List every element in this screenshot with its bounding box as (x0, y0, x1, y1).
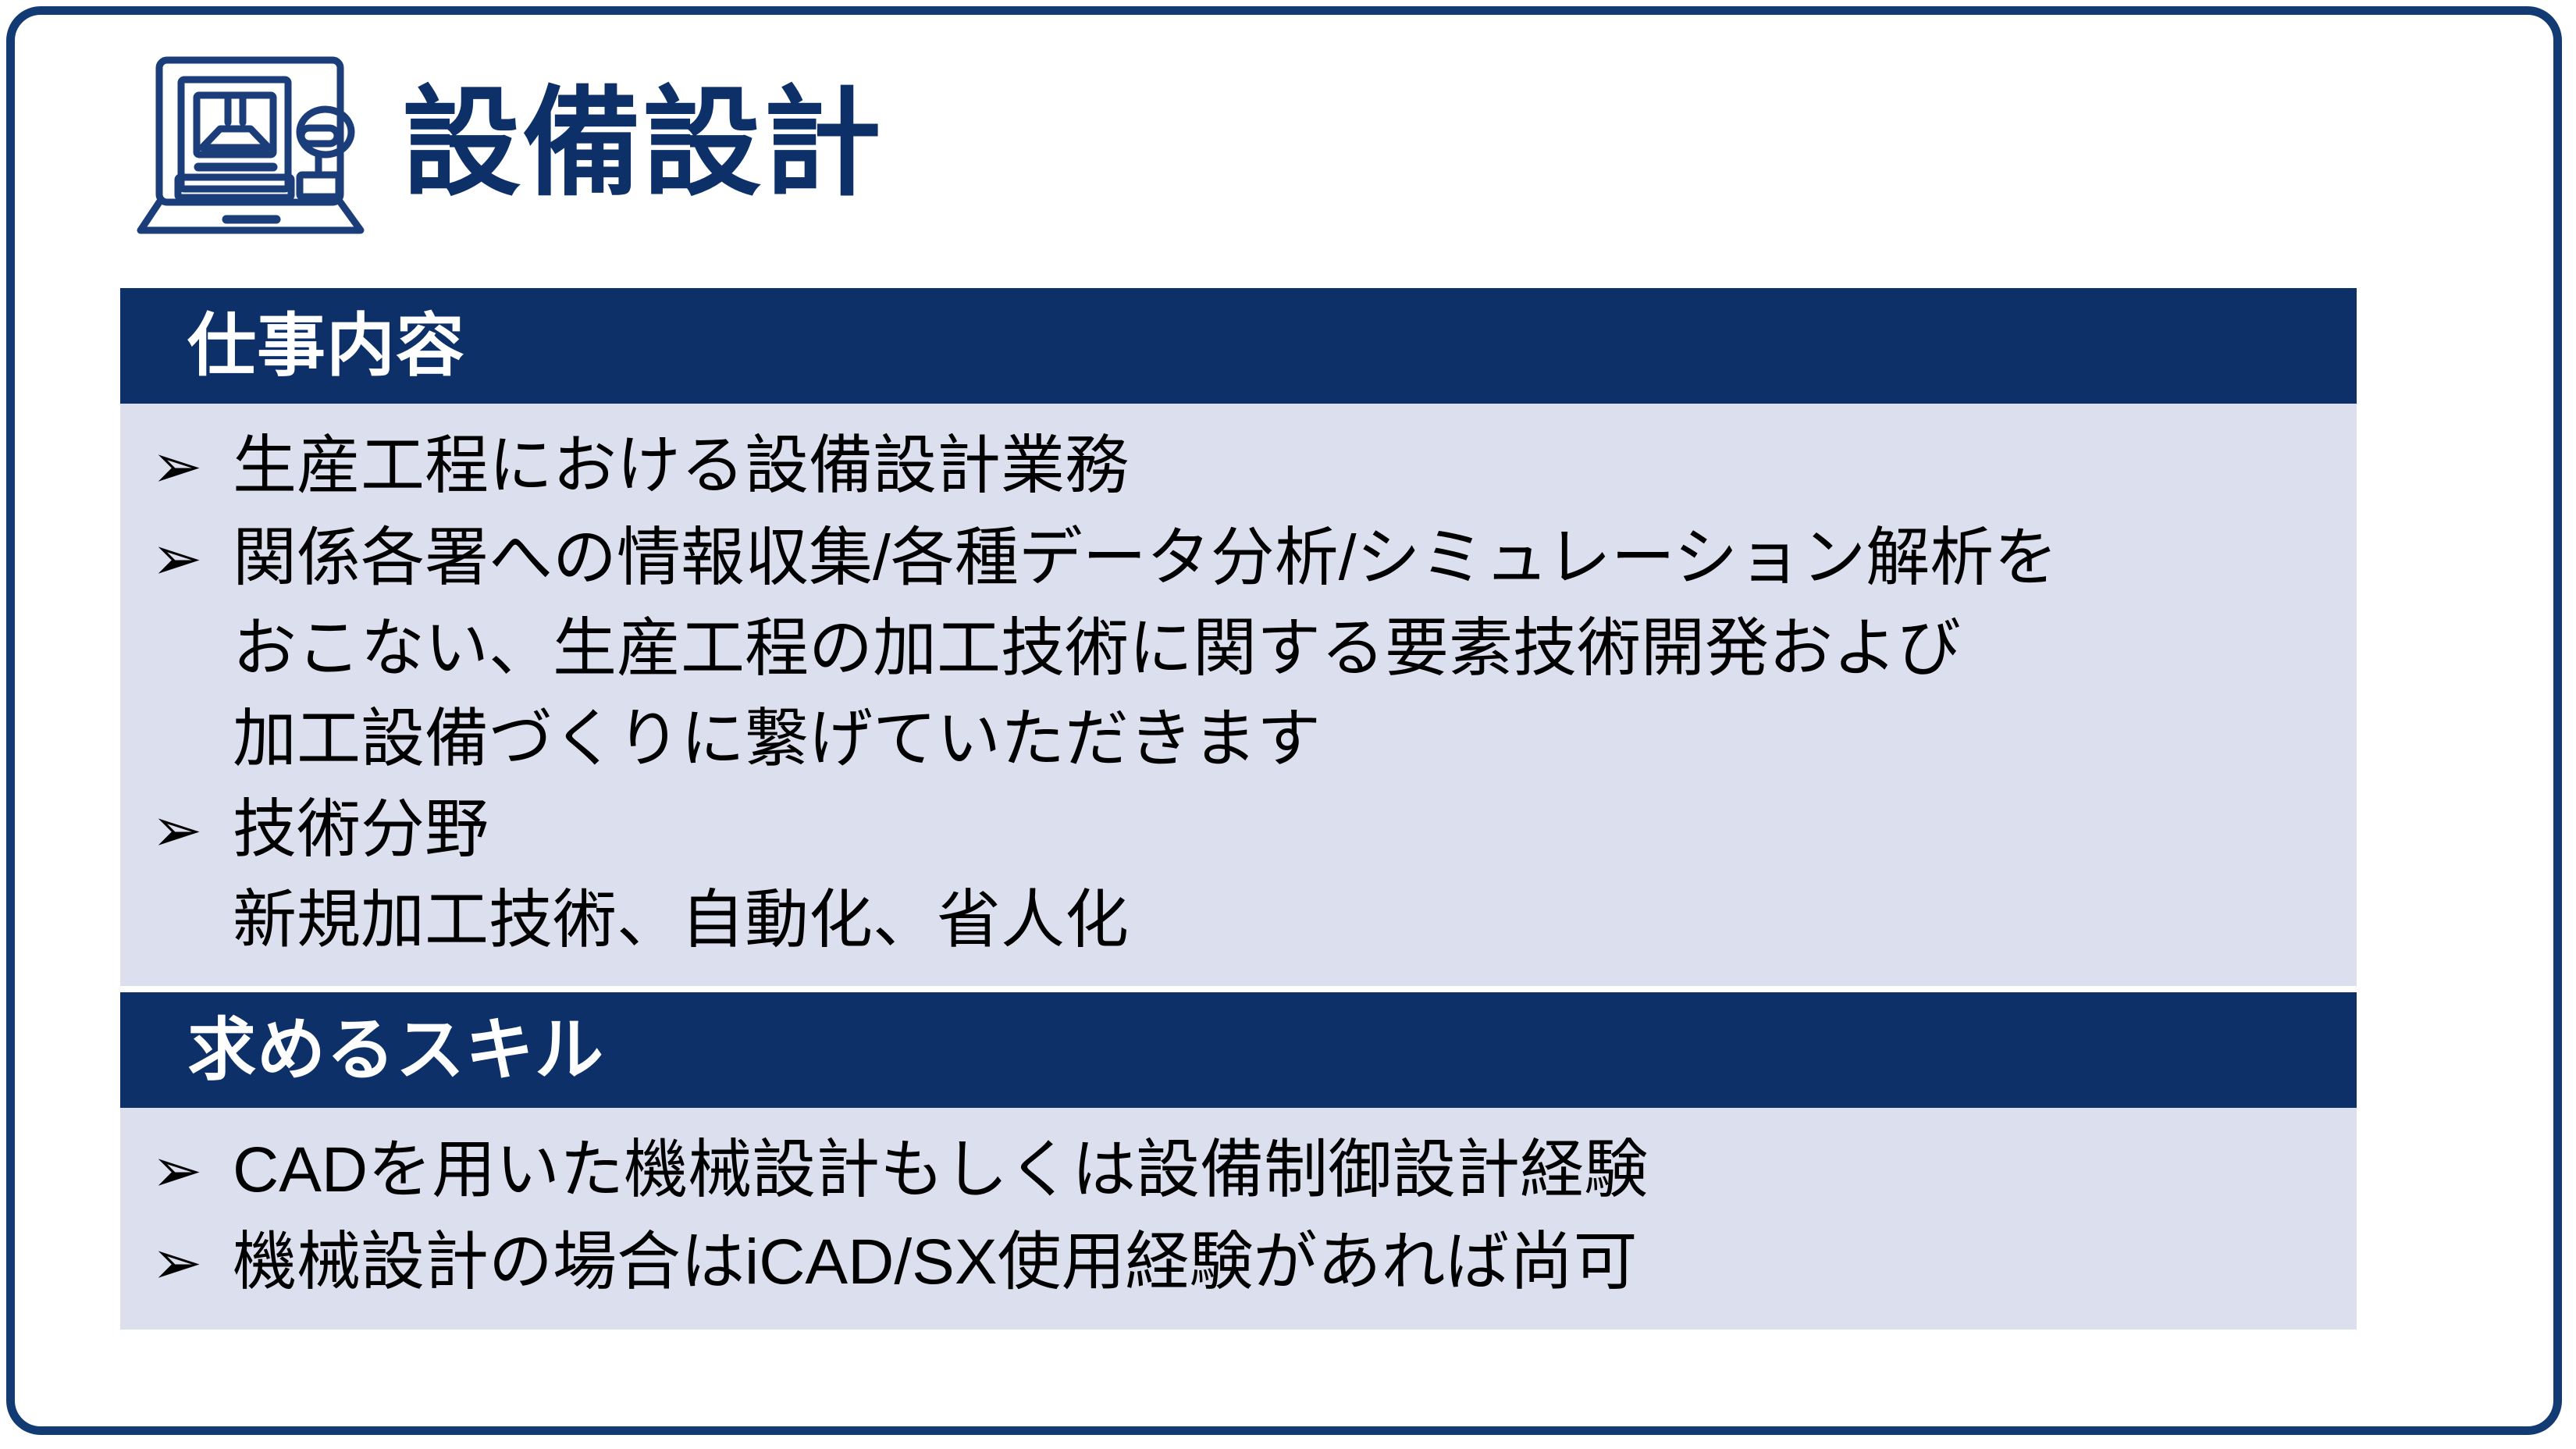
page-title: 設備設計 (402, 84, 883, 203)
bullet-arrow-icon: ➢ (151, 421, 233, 513)
section-header-job-description: 仕事内容 (120, 288, 2357, 404)
bullet-arrow-icon: ➢ (151, 1125, 233, 1217)
list-item-line: 新規加工技術、自動化、省人化 (233, 875, 2325, 966)
list-item-text: 機械設計の場合はiCAD/SX使用経験があれば尚可 (233, 1217, 2325, 1308)
list-item-line: 機械設計の場合はiCAD/SX使用経験があれば尚可 (233, 1217, 2325, 1308)
sections-container: 仕事内容 ➢ 生産工程における設備設計業務 ➢ 関係各署への情報収集/各種データ… (120, 288, 2357, 1330)
section-body-job-description: ➢ 生産工程における設備設計業務 ➢ 関係各署への情報収集/各種データ分析/シミ… (120, 404, 2357, 986)
bullet-arrow-icon: ➢ (151, 785, 233, 877)
list-item: ➢ 関係各署への情報収集/各種データ分析/シミュレーション解析を おこない、生産… (151, 513, 2325, 785)
laptop-cad-design-icon (124, 42, 382, 245)
list-item-text: 技術分野 新規加工技術、自動化、省人化 (233, 785, 2325, 966)
list-item-line: CADを用いた機械設計もしくは設備制御設計経験 (233, 1125, 2325, 1216)
list-item-line: 加工設備づくりに繋げていただきます (233, 694, 2325, 785)
list-item: ➢ 技術分野 新規加工技術、自動化、省人化 (151, 785, 2325, 966)
bullet-arrow-icon: ➢ (151, 1217, 233, 1309)
list-item-line: 関係各署への情報収集/各種データ分析/シミュレーション解析を (233, 513, 2325, 603)
list-item-text: CADを用いた機械設計もしくは設備制御設計経験 (233, 1125, 2325, 1216)
list-item: ➢ 生産工程における設備設計業務 (151, 421, 2325, 513)
section-job-description: 仕事内容 ➢ 生産工程における設備設計業務 ➢ 関係各署への情報収集/各種データ… (120, 288, 2357, 986)
list-item-line: おこない、生産工程の加工技術に関する要素技術開発および (233, 603, 2325, 694)
section-heading-label: 仕事内容 (187, 312, 465, 380)
section-header-required-skills: 求めるスキル (120, 992, 2357, 1108)
list-item-line: 生産工程における設備設計業務 (233, 421, 2325, 511)
card-header: 設備設計 (15, 15, 2553, 272)
list-item: ➢ CADを用いた機械設計もしくは設備制御設計経験 (151, 1125, 2325, 1217)
section-heading-label: 求めるスキル (187, 1016, 604, 1084)
list-item-text: 関係各署への情報収集/各種データ分析/シミュレーション解析を おこない、生産工程… (233, 513, 2325, 785)
list-item: ➢ 機械設計の場合はiCAD/SX使用経験があれば尚可 (151, 1217, 2325, 1309)
list-item-text: 生産工程における設備設計業務 (233, 421, 2325, 511)
bullet-arrow-icon: ➢ (151, 513, 233, 605)
section-required-skills: 求めるスキル ➢ CADを用いた機械設計もしくは設備制御設計経験 ➢ 機械設計の… (120, 992, 2357, 1330)
job-card: 設備設計 仕事内容 ➢ 生産工程における設備設計業務 ➢ 関係各署への情報収集/… (6, 6, 2562, 1435)
section-divider (120, 986, 2357, 992)
section-body-required-skills: ➢ CADを用いた機械設計もしくは設備制御設計経験 ➢ 機械設計の場合はiCAD… (120, 1108, 2357, 1330)
list-item-line: 技術分野 (233, 785, 2325, 875)
